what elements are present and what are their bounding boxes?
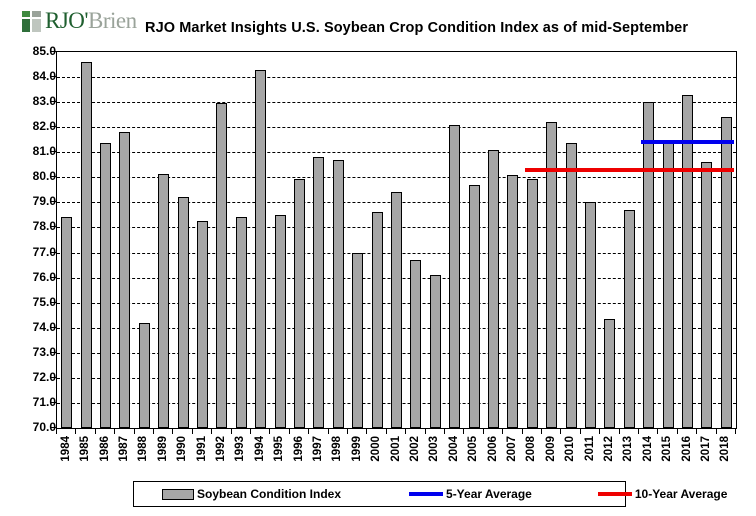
x-tick-label: 1992 bbox=[215, 436, 227, 462]
bar-1989 bbox=[158, 174, 169, 428]
legend-line-swatch-icon bbox=[598, 492, 632, 496]
bar-1993 bbox=[236, 217, 247, 428]
chart-legend: Soybean Condition Index5-Year Average10-… bbox=[133, 481, 626, 507]
bar-1987 bbox=[119, 132, 130, 428]
logo-text-secondary: Brien bbox=[88, 8, 137, 34]
x-tick-mark bbox=[328, 428, 329, 434]
bar-2013 bbox=[624, 210, 635, 428]
gridline bbox=[57, 77, 736, 78]
x-tick-label: 2003 bbox=[428, 436, 440, 462]
x-tick-mark bbox=[405, 428, 406, 434]
x-tick-label: 2014 bbox=[642, 436, 654, 462]
legend-item-2: 10-Year Average bbox=[598, 487, 728, 501]
x-tick-label: 2000 bbox=[370, 436, 382, 462]
gridline bbox=[57, 102, 736, 103]
average-line-5-year bbox=[641, 140, 734, 144]
x-tick-mark bbox=[444, 428, 445, 434]
bar-1998 bbox=[333, 160, 344, 428]
x-tick-label: 2005 bbox=[467, 436, 479, 462]
legend-label: 5-Year Average bbox=[446, 487, 532, 501]
x-tick-label: 2017 bbox=[700, 436, 712, 462]
x-tick-mark bbox=[289, 428, 290, 434]
bar-1999 bbox=[352, 253, 363, 428]
x-tick-mark bbox=[56, 428, 57, 434]
x-tick-label: 2006 bbox=[487, 436, 499, 462]
x-tick-mark bbox=[347, 428, 348, 434]
plot-area bbox=[56, 51, 737, 429]
x-tick-label: 1993 bbox=[234, 436, 246, 462]
bar-2014 bbox=[643, 102, 654, 428]
x-tick-label: 2011 bbox=[584, 436, 596, 461]
gridline bbox=[57, 152, 736, 153]
x-tick-mark bbox=[366, 428, 367, 434]
x-tick-mark bbox=[114, 428, 115, 434]
bar-2002 bbox=[410, 260, 421, 428]
x-tick-label: 1991 bbox=[196, 436, 208, 462]
x-tick-mark bbox=[153, 428, 154, 434]
rjo-brien-logo: RJO'Brien bbox=[22, 7, 137, 35]
x-tick-mark bbox=[134, 428, 135, 434]
x-tick-mark bbox=[463, 428, 464, 434]
bar-2006 bbox=[488, 150, 499, 428]
bar-2007 bbox=[507, 175, 518, 428]
bar-1984 bbox=[61, 217, 72, 428]
x-tick-label: 1987 bbox=[118, 436, 130, 462]
x-tick-mark bbox=[192, 428, 193, 434]
legend-bar-swatch-icon bbox=[162, 489, 194, 500]
x-tick-label: 2009 bbox=[545, 436, 557, 462]
x-tick-label: 1997 bbox=[312, 436, 324, 462]
bar-1986 bbox=[100, 143, 111, 428]
x-tick-mark bbox=[95, 428, 96, 434]
x-tick-label: 1989 bbox=[157, 436, 169, 462]
logo-text-primary: RJO' bbox=[45, 8, 88, 34]
x-tick-label: 2013 bbox=[622, 436, 634, 462]
plot-inner bbox=[57, 52, 736, 428]
x-tick-mark bbox=[75, 428, 76, 434]
x-tick-label: 1996 bbox=[293, 436, 305, 462]
legend-line-swatch-icon bbox=[409, 492, 443, 496]
x-tick-mark bbox=[638, 428, 639, 434]
average-line-10-year bbox=[525, 168, 734, 172]
x-tick-label: 2012 bbox=[603, 436, 615, 462]
x-tick-label: 2018 bbox=[719, 436, 731, 462]
y-axis: 85.084.083.082.081.080.079.078.077.076.0… bbox=[0, 51, 56, 427]
bar-2016 bbox=[682, 95, 693, 428]
x-tick-mark bbox=[716, 428, 717, 434]
x-tick-label: 2002 bbox=[409, 436, 421, 462]
bar-2018 bbox=[721, 117, 732, 428]
x-tick-label: 1985 bbox=[79, 436, 91, 462]
bar-1996 bbox=[294, 179, 305, 428]
x-tick-label: 2016 bbox=[681, 436, 693, 462]
x-tick-label: 2010 bbox=[564, 436, 576, 462]
bar-2004 bbox=[449, 125, 460, 428]
x-axis: 1984198519861987198819891990199119921993… bbox=[56, 428, 737, 488]
x-tick-mark bbox=[483, 428, 484, 434]
x-tick-mark bbox=[522, 428, 523, 434]
x-tick-mark bbox=[677, 428, 678, 434]
bar-2000 bbox=[372, 212, 383, 428]
bar-1995 bbox=[275, 215, 286, 428]
bar-1997 bbox=[313, 157, 324, 428]
bar-1988 bbox=[139, 323, 150, 428]
chart-header: RJO'Brien RJO Market Insights U.S. Soybe… bbox=[0, 0, 756, 44]
bar-2003 bbox=[430, 275, 441, 428]
x-tick-mark bbox=[657, 428, 658, 434]
x-tick-mark bbox=[269, 428, 270, 434]
x-tick-label: 1998 bbox=[331, 436, 343, 462]
x-tick-mark bbox=[580, 428, 581, 434]
x-tick-label: 2007 bbox=[506, 436, 518, 462]
x-tick-label: 1988 bbox=[137, 436, 149, 462]
bar-2012 bbox=[604, 319, 615, 428]
x-tick-label: 1984 bbox=[60, 436, 72, 462]
legend-item-0: Soybean Condition Index bbox=[162, 487, 341, 501]
legend-label: Soybean Condition Index bbox=[197, 487, 341, 501]
x-tick-mark bbox=[211, 428, 212, 434]
x-tick-label: 2015 bbox=[661, 436, 673, 462]
bar-2001 bbox=[391, 192, 402, 428]
bar-1985 bbox=[81, 62, 92, 428]
bar-1991 bbox=[197, 221, 208, 428]
x-tick-label: 1999 bbox=[351, 436, 363, 462]
bar-2010 bbox=[566, 143, 577, 428]
x-tick-mark bbox=[599, 428, 600, 434]
x-tick-label: 1990 bbox=[176, 436, 188, 462]
page-title: RJO Market Insights U.S. Soybean Crop Co… bbox=[145, 20, 688, 36]
x-tick-mark bbox=[308, 428, 309, 434]
x-tick-mark bbox=[425, 428, 426, 434]
x-tick-label: 1986 bbox=[99, 436, 111, 462]
x-tick-mark bbox=[735, 428, 736, 434]
gridline bbox=[57, 127, 736, 128]
legend-item-1: 5-Year Average bbox=[409, 487, 532, 501]
bar-2017 bbox=[701, 162, 712, 428]
bar-1994 bbox=[255, 70, 266, 428]
x-tick-mark bbox=[560, 428, 561, 434]
x-tick-label: 2008 bbox=[525, 436, 537, 462]
bar-2011 bbox=[585, 202, 596, 428]
x-tick-label: 2001 bbox=[390, 436, 402, 462]
x-tick-mark bbox=[541, 428, 542, 434]
x-tick-mark bbox=[231, 428, 232, 434]
bar-2008 bbox=[527, 179, 538, 428]
bar-1990 bbox=[178, 197, 189, 428]
x-tick-mark bbox=[172, 428, 173, 434]
x-tick-mark bbox=[502, 428, 503, 434]
x-tick-mark bbox=[619, 428, 620, 434]
bar-2005 bbox=[469, 185, 480, 428]
x-tick-mark bbox=[696, 428, 697, 434]
bar-1992 bbox=[216, 103, 227, 428]
x-tick-label: 1995 bbox=[273, 436, 285, 462]
x-tick-mark bbox=[250, 428, 251, 434]
rjo-square-mark-icon bbox=[22, 11, 42, 32]
x-tick-label: 1994 bbox=[254, 436, 266, 462]
x-tick-mark bbox=[386, 428, 387, 434]
x-tick-label: 2004 bbox=[448, 436, 460, 462]
bar-2015 bbox=[663, 142, 674, 428]
legend-label: 10-Year Average bbox=[635, 487, 728, 501]
